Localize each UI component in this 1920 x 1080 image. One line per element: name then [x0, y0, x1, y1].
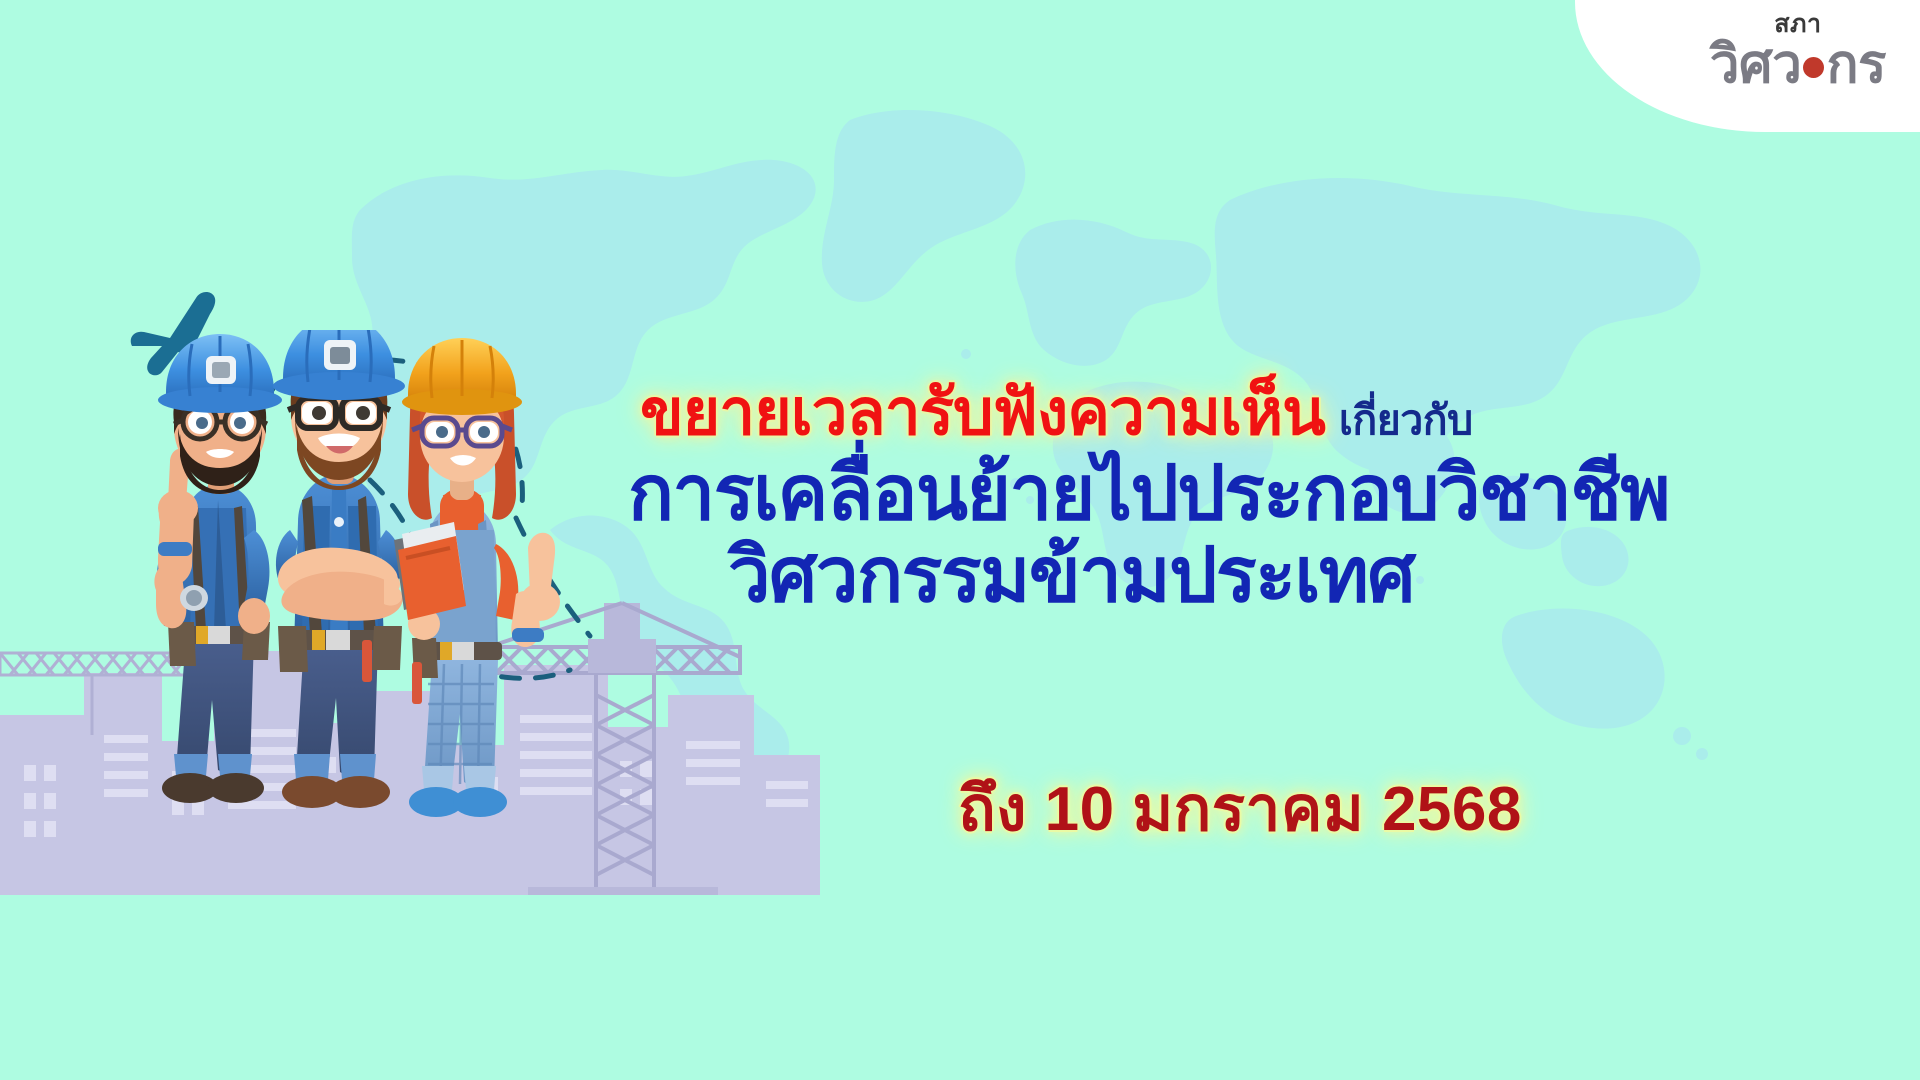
- engineers-illustration: [150, 330, 610, 860]
- headline-line-1: ขยายเวลารับฟังความเห็นเกี่ยวกับ: [640, 380, 1880, 444]
- dashed-route-icon: [120, 250, 680, 730]
- date-notice-block: ถึง 10 มกราคม 2568: [600, 760, 1880, 858]
- headline-line-1-red: ขยายเวลารับฟังความเห็น: [640, 376, 1325, 448]
- headline-line-3: วิศวกรรมข้ามประเทศ: [728, 538, 1880, 614]
- headline-line-1-blue: เกี่ยวกับ: [1339, 397, 1473, 443]
- headline-line-2: การเคลื่อนย้ายไปประกอบวิชาชีพ: [628, 456, 1880, 532]
- banner-canvas: สภา วิศวกร ขยายเวลารับฟังความเห็นเกี่ยวก…: [0, 0, 1920, 1080]
- logo-top-text: สภา: [1710, 12, 1886, 37]
- date-notice-text: ถึง 10 มกราคม 2568: [958, 775, 1522, 844]
- logo-main-right: กร: [1826, 35, 1886, 94]
- engineer-holding-folders: [394, 338, 560, 817]
- airplane-icon: [122, 288, 247, 398]
- construction-crane-icon: [0, 653, 226, 735]
- coe-logo: สภา วิศวกร: [1710, 12, 1886, 91]
- logo-main-text: วิศวกร: [1710, 38, 1886, 91]
- engineer-arms-crossed: [273, 330, 405, 808]
- red-dot-icon: [1803, 57, 1824, 78]
- headline-block: ขยายเวลารับฟังความเห็นเกี่ยวกับ การเคลื่…: [600, 380, 1880, 620]
- engineer-pointing-up: [154, 334, 282, 803]
- logo-main-left: วิศว: [1710, 35, 1802, 94]
